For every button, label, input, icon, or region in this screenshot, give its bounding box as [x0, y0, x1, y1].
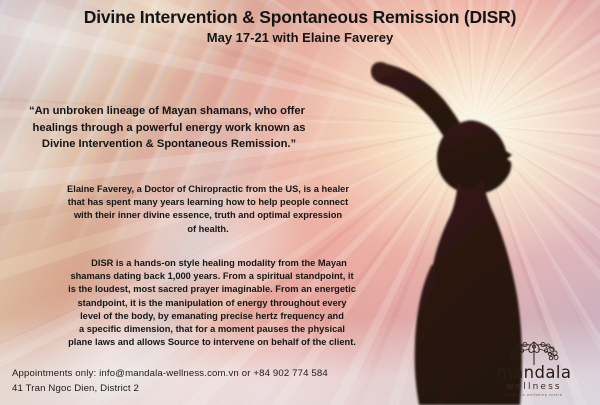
- title-block: Divine Intervention & Spontaneous Remiss…: [0, 6, 600, 47]
- description-paragraph: DISR is a hands-on style healing modalit…: [22, 257, 402, 349]
- contact-address-line: 41 Tran Ngoc Dien, District 2: [12, 381, 392, 396]
- page-subtitle: May 17-21 with Elaine Faverey: [0, 29, 600, 47]
- description-line-4: standpoint, it is the manipulation of en…: [22, 297, 402, 310]
- bio-line-3: with their inner divine essence, truth a…: [22, 209, 394, 222]
- description-line-5: level of the body, by emanating precise …: [22, 310, 402, 323]
- description-line-3: is the loudest, most sacred prayer imagi…: [22, 283, 402, 296]
- bio-line-4: of health.: [22, 223, 394, 236]
- quote-line-3: Divine Intervention & Spontaneous Remiss…: [10, 136, 328, 153]
- description-line-1: DISR is a hands-on style healing modalit…: [22, 257, 402, 270]
- description-line-7: plane laws and allows Source to interven…: [22, 336, 402, 349]
- quote-line-2: healings through a powerful energy work …: [10, 120, 328, 137]
- contact-appointments-line[interactable]: Appointments only: info@mandala-wellness…: [12, 366, 392, 381]
- contact-block: Appointments only: info@mandala-wellness…: [12, 366, 392, 396]
- quote-line-1: “An unbroken lineage of Mayan shamans, w…: [10, 103, 328, 120]
- description-line-6: a specific dimension, that for a moment …: [22, 323, 402, 336]
- page-title: Divine Intervention & Spontaneous Remiss…: [0, 6, 600, 28]
- logo-tagline: a holistic wellbeing centre: [476, 393, 592, 398]
- lotus-mandala-icon: [476, 339, 592, 365]
- pull-quote: “An unbroken lineage of Mayan shamans, w…: [10, 103, 328, 153]
- mandala-wellness-logo: mandala wellness a holistic wellbeing ce…: [476, 339, 592, 401]
- flyer-canvas: Divine Intervention & Spontaneous Remiss…: [0, 0, 600, 405]
- bio-line-2: that has spent many years learning how t…: [22, 196, 394, 209]
- bio-paragraph: Elaine Faverey, a Doctor of Chiropractic…: [22, 183, 394, 236]
- bio-line-1: Elaine Faverey, a Doctor of Chiropractic…: [22, 183, 394, 196]
- description-line-2: shamans dating back 1,000 years. From a …: [22, 270, 402, 283]
- logo-subtitle: wellness: [476, 382, 592, 392]
- logo-wordmark: mandala: [476, 364, 592, 381]
